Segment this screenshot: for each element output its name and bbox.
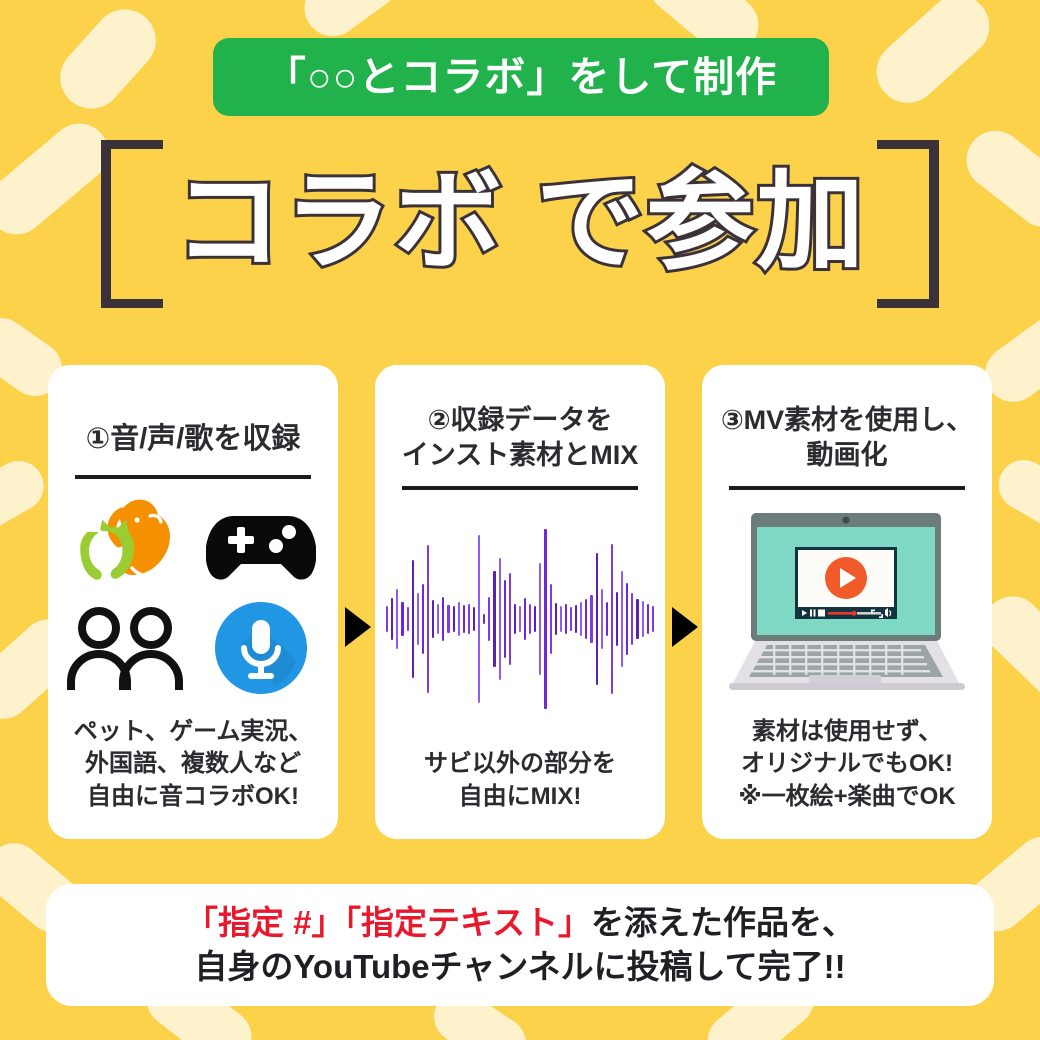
waveform-bar: [580, 602, 582, 636]
waveform-bar: [621, 571, 623, 667]
arrow-right-icon-1: [345, 607, 371, 647]
background-pill-0: [47, 0, 168, 121]
step-1-artwork: [62, 479, 324, 716]
step-2-artwork: [389, 490, 651, 748]
waveform-bar: [539, 563, 541, 675]
waveform-bar: [432, 600, 434, 638]
waveform-bar: [483, 614, 485, 624]
submission-banner: 「指定 #」「指定テキスト」を添えた作品を、 自身のYouTubeチャンネルに投…: [46, 884, 994, 1006]
waveform-bar: [427, 545, 429, 693]
waveform-bar: [647, 604, 649, 634]
waveform-bar: [396, 589, 398, 649]
microphone-icon: [196, 600, 326, 695]
submission-line-1-rest: を添えた作品を、: [591, 904, 855, 941]
submission-hashtag-label: 「指定 #」「指定テキスト」: [185, 904, 591, 941]
waveform-bar: [590, 595, 592, 643]
waveform-bar: [616, 592, 618, 646]
page-title: コラボ で参加: [0, 154, 1040, 289]
waveform-bar: [422, 584, 424, 654]
background-pill-5: [864, 0, 1002, 116]
waveform-bar: [560, 606, 562, 632]
submission-line-1: 「指定 #」「指定テキスト」を添えた作品を、: [185, 901, 855, 945]
waveform-bar: [575, 605, 577, 633]
waveform-bar: [509, 573, 511, 665]
waveform-bar: [478, 535, 480, 703]
step-card-1: ①音/声/歌を収録: [48, 365, 338, 839]
waveform-bar: [401, 602, 403, 636]
step-card-3: ③MV素材を使用し、 動画化: [702, 365, 992, 839]
step-1-heading: ①音/声/歌を収録: [62, 365, 324, 458]
audio-waveform-icon: [386, 534, 654, 704]
waveform-bar: [447, 605, 449, 633]
waveform-bar: [412, 560, 414, 678]
collab-banner-label: 「○○とコラボ」をして制作: [265, 57, 777, 98]
waveform-bar: [504, 580, 506, 658]
waveform-bar: [442, 597, 444, 641]
steps-row: ①音/声/歌を収録: [0, 365, 1040, 845]
waveform-bar: [453, 606, 455, 632]
waveform-bar: [529, 604, 531, 634]
waveform-bar: [631, 593, 633, 645]
waveform-bar: [499, 558, 501, 680]
two-people-icon: [60, 600, 190, 695]
gamepad-icon: [196, 493, 326, 598]
step-3-heading: ③MV素材を使用し、 動画化: [716, 365, 978, 472]
waveform-bar: [611, 544, 613, 694]
waveform-bar: [386, 606, 388, 632]
waveform-bar: [642, 601, 644, 637]
step-2-footer: サビ以外の部分を 自由にMIX!: [389, 748, 651, 839]
waveform-bar: [601, 589, 603, 649]
waveform-bar: [585, 599, 587, 639]
waveform-bar: [519, 606, 521, 632]
step-1-footer: ペット、ゲーム実況、 外国語、複数人など 自由に音コラボOK!: [62, 716, 324, 839]
waveform-bar: [565, 604, 567, 634]
waveform-bar: [550, 584, 552, 654]
waveform-bar: [555, 603, 557, 635]
waveform-bar: [596, 553, 598, 685]
waveform-bar: [463, 605, 465, 633]
waveform-bar: [534, 606, 536, 632]
waveform-bar: [524, 598, 526, 640]
waveform-bar: [473, 607, 475, 631]
collab-banner: 「○○とコラボ」をして制作: [213, 38, 829, 116]
waveform-bar: [514, 604, 516, 634]
cat-dog-pets-icon: [60, 493, 190, 598]
step-3-artwork: [716, 490, 978, 716]
waveform-bar: [606, 602, 608, 636]
waveform-bar: [652, 606, 654, 632]
waveform-bar: [493, 571, 495, 667]
infographic-canvas: 「○○とコラボ」をして制作 コラボ で参加 ①音/声/歌を収録: [0, 0, 1040, 1040]
title-section: コラボ で参加: [0, 132, 1040, 322]
step-3-footer: 素材は使用せず、 オリジナルでもOK! ※一枚絵+楽曲でOK: [716, 716, 978, 839]
waveform-bar: [626, 583, 628, 655]
waveform-bar: [458, 602, 460, 636]
waveform-bar: [391, 598, 393, 640]
arrow-right-icon-2: [672, 607, 698, 647]
waveform-bar: [544, 529, 546, 709]
laptop-video-player-icon: [713, 507, 981, 698]
step-2-heading: ②収録データを インスト素材とMIX: [389, 365, 651, 472]
waveform-bar: [488, 597, 490, 641]
waveform-bar: [636, 599, 638, 639]
waveform-bar: [417, 593, 419, 645]
waveform-bar: [468, 604, 470, 634]
submission-line-2: 自身のYouTubeチャンネルに投稿して完了!!: [194, 945, 845, 989]
step-card-2: ②収録データを インスト素材とMIX サビ以外の部分を 自由にMIX!: [375, 365, 665, 839]
waveform-bar: [570, 607, 572, 631]
waveform-bar: [407, 607, 409, 631]
waveform-bar: [437, 604, 439, 634]
